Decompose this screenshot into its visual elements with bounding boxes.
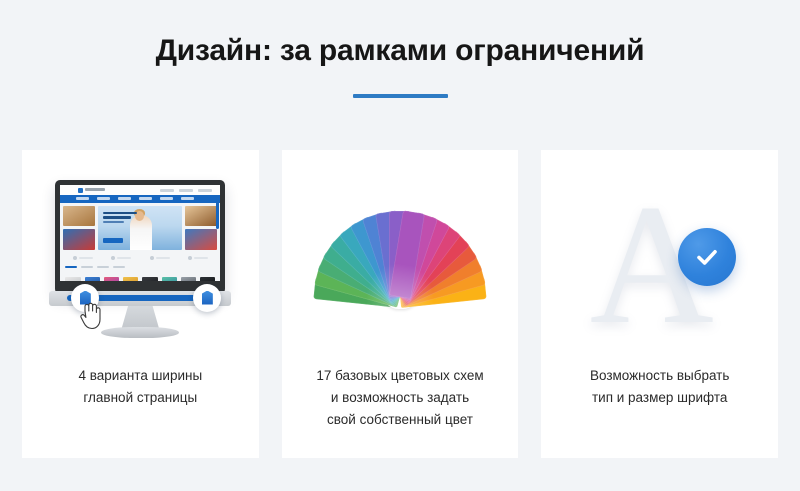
site-nav-item: [76, 197, 89, 200]
color-fan-illustration: [282, 150, 519, 365]
monitor-bezel: [55, 180, 225, 294]
site-product-thumb: [85, 277, 100, 281]
site-tile: [185, 229, 217, 250]
site-hero-banner: [98, 206, 182, 250]
site-tab: [81, 266, 93, 269]
site-feature-row: [63, 253, 217, 264]
letter-a-icon: A: [560, 173, 760, 343]
site-top-links: [160, 189, 212, 192]
site-tab-row: [63, 266, 217, 271]
site-tile: [63, 229, 95, 250]
caption-line: и возможность задать: [300, 387, 501, 409]
monitor-stand-neck: [121, 306, 159, 330]
site-top-link: [198, 189, 212, 192]
site-tile: [185, 206, 217, 227]
site-body: [60, 203, 220, 281]
site-topbar: [60, 185, 220, 195]
caption-line: тип и размер шрифта: [559, 387, 760, 409]
feature-card-list: 4 варианта ширины главной страницы 17 ба…: [22, 150, 778, 458]
monitor-illustration: [22, 150, 259, 365]
feature-card-page-width[interactable]: 4 варианта ширины главной страницы: [22, 150, 259, 458]
feature-card-typography[interactable]: A Возможность выбрать тип и размер шрифт…: [541, 150, 778, 458]
site-nav-item: [181, 197, 194, 200]
site-product-thumb: [162, 277, 177, 281]
caption-line: свой собственный цвет: [300, 409, 501, 431]
site-product-thumb: [200, 277, 215, 281]
monitor-stand-base: [101, 327, 179, 338]
feature-card-color-schemes[interactable]: 17 базовых цветовых схем и возможность з…: [282, 150, 519, 458]
feature-card-caption: 17 базовых цветовых схем и возможность з…: [282, 365, 519, 458]
site-product-thumb: [142, 277, 157, 281]
caption-line: Возможность выбрать: [559, 365, 760, 387]
site-product-strip: [63, 274, 217, 281]
hero-text-line: [103, 216, 130, 219]
color-swatch-fan-icon: [300, 173, 500, 343]
site-logo-text: [85, 188, 105, 191]
page-title: Дизайн: за рамками ограничений: [0, 34, 800, 69]
site-nav-item: [97, 197, 110, 200]
title-underline-rule: [353, 94, 448, 98]
typography-illustration: A: [541, 150, 778, 365]
site-tile: [63, 206, 95, 227]
site-product-thumb: [65, 277, 80, 281]
site-nav-item: [160, 197, 173, 200]
width-slider-handle-right[interactable]: [193, 284, 221, 312]
site-product-thumb: [123, 277, 138, 281]
site-tab: [65, 266, 77, 269]
site-feature-item: [188, 256, 208, 260]
site-feature-item: [111, 256, 131, 260]
site-tile-row: [63, 206, 217, 250]
site-product-thumb: [181, 277, 196, 281]
desktop-monitor-icon: [49, 180, 231, 340]
hero-cta-button: [103, 238, 123, 243]
caption-line: главной страницы: [40, 387, 241, 409]
site-nav-item: [118, 197, 131, 200]
site-product-thumb: [104, 277, 119, 281]
hero-text-line: [103, 221, 123, 224]
site-scrollbar: [216, 199, 219, 229]
caption-line: 4 варианта ширины: [40, 365, 241, 387]
site-nav-item: [139, 197, 152, 200]
check-icon: [692, 242, 722, 272]
site-tab: [113, 266, 125, 269]
site-feature-item: [73, 256, 93, 260]
caption-line: 17 базовых цветовых схем: [300, 365, 501, 387]
site-top-link: [160, 189, 174, 192]
hero-text-line: [103, 212, 137, 215]
feature-card-caption: 4 варианта ширины главной страницы: [22, 365, 259, 458]
design-features-section: Дизайн: за рамками ограничений: [0, 0, 800, 491]
monitor-screen: [60, 185, 220, 281]
hand-cursor-icon: [80, 302, 102, 330]
resize-handle-icon: [202, 291, 213, 305]
site-tab: [97, 266, 109, 269]
site-top-link: [179, 189, 193, 192]
feature-card-caption: Возможность выбрать тип и размер шрифта: [541, 365, 778, 458]
site-tile-column-right: [185, 206, 217, 250]
site-feature-item: [150, 256, 170, 260]
site-tile-column-left: [63, 206, 95, 250]
section-header: Дизайн: за рамками ограничений: [0, 0, 800, 98]
check-badge: [678, 228, 736, 286]
site-navbar: [60, 195, 220, 203]
site-logo-icon: [78, 188, 83, 193]
hero-headline-lines: [103, 212, 137, 226]
